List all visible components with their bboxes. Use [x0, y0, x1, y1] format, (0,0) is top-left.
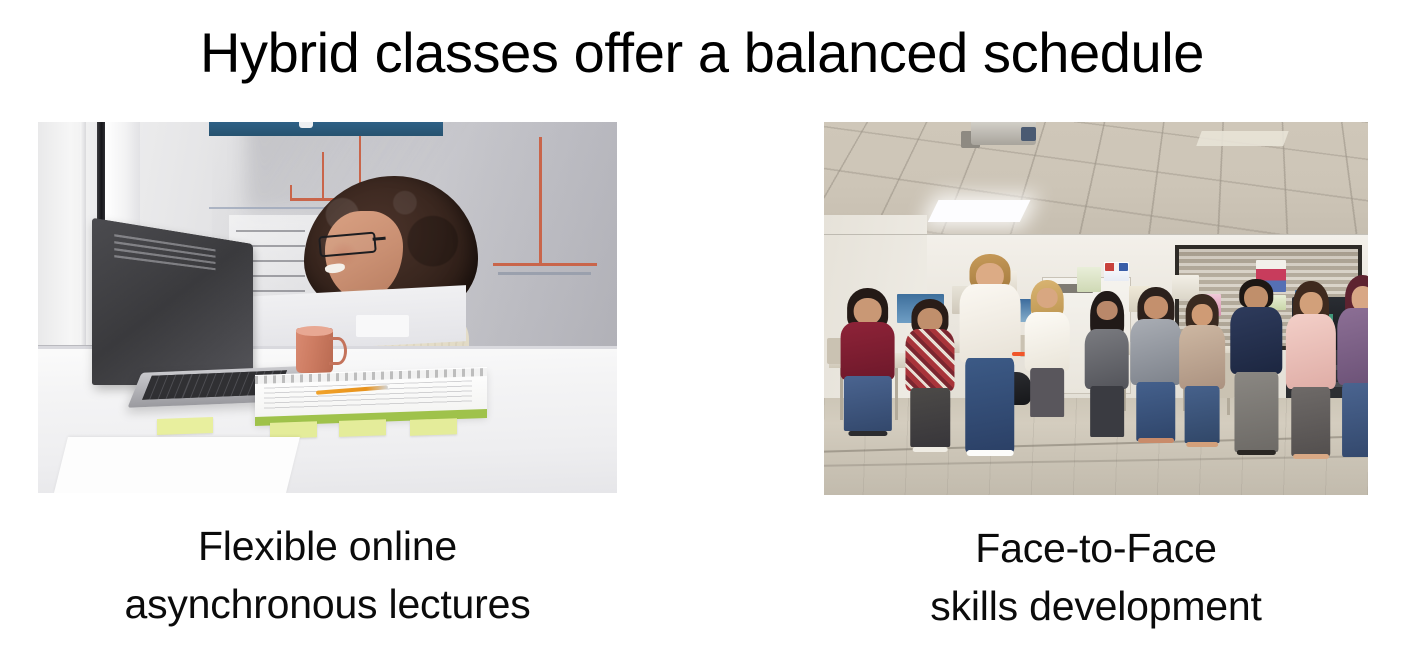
- sticky-note: [339, 419, 386, 437]
- orange-graphic-line-1: [359, 136, 362, 188]
- slide-root: { "slide": { "title": "Hybrid classes of…: [0, 0, 1404, 648]
- person-face: [1192, 304, 1213, 326]
- person-legs: [1136, 382, 1175, 441]
- person-legs: [1090, 386, 1124, 437]
- laptop-icon: [92, 218, 253, 385]
- caption-online: Flexible online asynchronous lectures: [38, 517, 617, 633]
- person-legs: [965, 358, 1015, 452]
- person-torso: [1025, 312, 1070, 371]
- panel-face-to-face: Face-to-Face skills development: [824, 122, 1368, 635]
- person-seated-maroon: [835, 290, 900, 450]
- caption-f2f-line-2: skills development: [824, 577, 1368, 635]
- person-legs: [1342, 383, 1368, 457]
- sticky-note: [157, 417, 213, 435]
- person-shoes: [913, 447, 948, 452]
- person-legs: [910, 388, 949, 447]
- person-purple-cardigan: [1333, 279, 1368, 473]
- ceiling-light-panel-dim: [1197, 131, 1289, 146]
- blank-paper-sheet: [54, 437, 299, 493]
- person-torso: [1130, 319, 1181, 385]
- person-plaid: [900, 301, 960, 465]
- person-torso: [1085, 329, 1130, 389]
- caption-online-line-2: asynchronous lectures: [38, 575, 617, 633]
- person-legs: [843, 376, 891, 431]
- person-shoes: [1293, 454, 1329, 459]
- projector-lens: [1021, 127, 1035, 140]
- person-white-sweater: [955, 256, 1026, 469]
- banner-notch: [299, 122, 313, 128]
- person-shoes: [1237, 450, 1275, 455]
- wall-poster: [1077, 267, 1101, 291]
- person-torso: [1179, 325, 1225, 389]
- person-torso: [840, 322, 895, 380]
- person-shoes: [1186, 442, 1218, 447]
- person-shoes: [967, 450, 1014, 456]
- person-tan-top: [1175, 297, 1229, 457]
- woman-at-desk-with-laptop-photo: [38, 122, 617, 493]
- classroom-group-activity-photo: [824, 122, 1368, 495]
- person-face: [1144, 296, 1168, 319]
- panel-online: Flexible online asynchronous lectures: [38, 122, 617, 633]
- person-legs: [1235, 372, 1278, 452]
- desk-white-object: [356, 315, 408, 337]
- orange-graphic-line-2: [322, 152, 325, 200]
- sticky-note: [410, 418, 457, 436]
- person-shoes: [1138, 438, 1174, 443]
- person-torso: [1286, 314, 1336, 389]
- person-blonde-back: [1020, 282, 1074, 416]
- mug-rim: [296, 326, 333, 336]
- person-shoes: [848, 431, 887, 436]
- gray-graphic-line: [498, 272, 591, 275]
- caption-online-line-1: Flexible online: [38, 517, 617, 575]
- blue-banner-strip: [209, 122, 443, 136]
- caption-face-to-face: Face-to-Face skills development: [824, 519, 1368, 635]
- person-face: [1097, 301, 1118, 320]
- person-face: [1037, 288, 1058, 308]
- orange-graphic-line-6: [493, 263, 597, 266]
- person-torso: [906, 329, 955, 391]
- person-torso: [1231, 307, 1282, 374]
- caption-f2f-line-1: Face-to-Face: [824, 519, 1368, 577]
- wall-trim-line: [824, 234, 1368, 236]
- person-torso: [960, 284, 1021, 363]
- person-navy-shirt: [1227, 281, 1287, 468]
- person-legs: [1030, 368, 1064, 416]
- person-torso: [1337, 308, 1368, 386]
- ceiling-light-panel: [927, 200, 1030, 222]
- person-face: [1299, 292, 1322, 316]
- wall-poster-flag: [1105, 263, 1128, 271]
- person-legs: [1185, 386, 1220, 444]
- orange-graphic-line-5: [539, 137, 542, 263]
- person-legs: [1291, 387, 1330, 456]
- page-title: Hybrid classes offer a balanced schedule: [0, 22, 1404, 85]
